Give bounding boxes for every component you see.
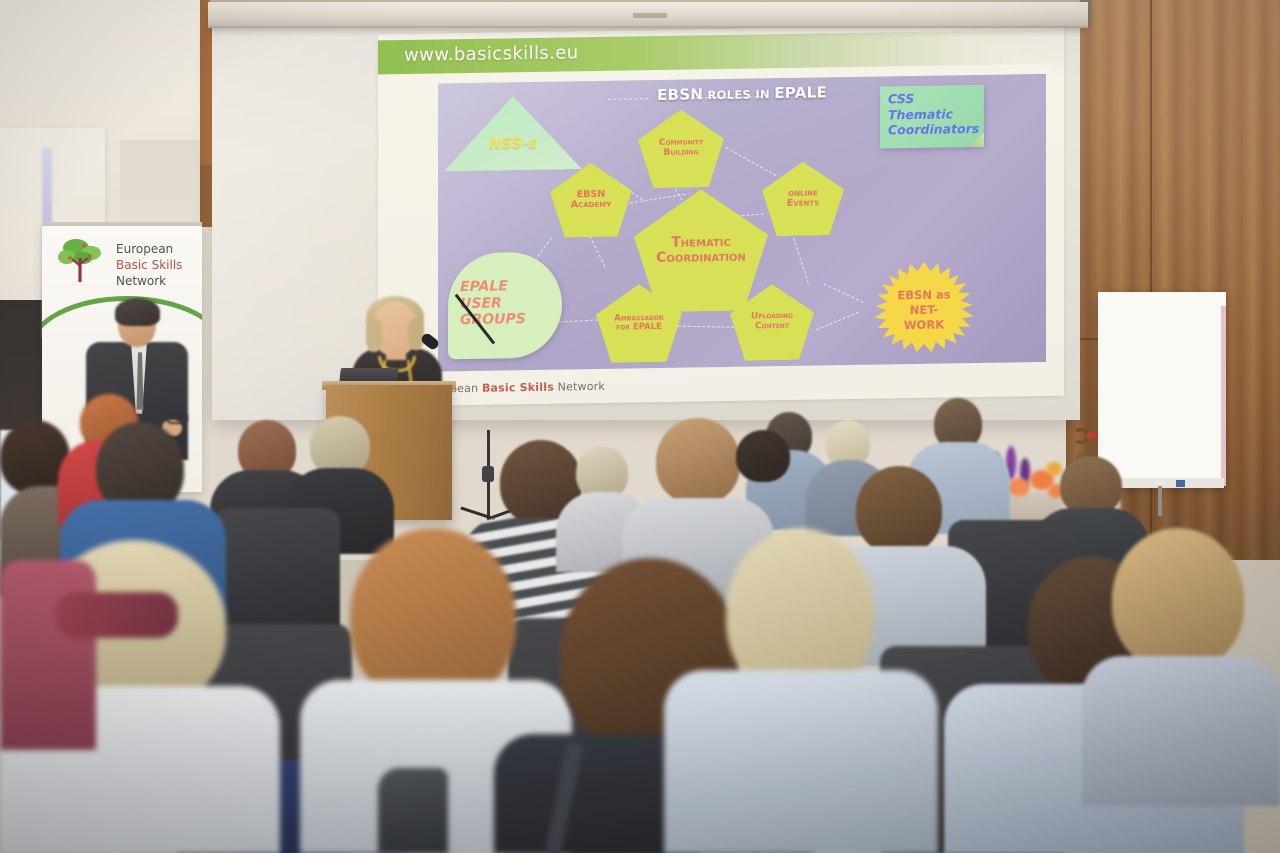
projection-screen: www.basicskills.eu EBSN ROLES IN EPALE	[212, 24, 1080, 420]
roller-brand-label	[633, 13, 667, 18]
shape-css-sticky-label: CSS Thematic Coordinators	[888, 90, 986, 138]
node-academy-line2: Academy	[571, 200, 612, 211]
shape-nss-label: NSS-s	[444, 133, 582, 153]
node-ambassador-line2: for EPALE	[616, 323, 662, 333]
speaker-hair-right	[408, 318, 424, 350]
node-community-line2: Building	[664, 148, 699, 158]
css-line2: Thematic	[888, 105, 986, 122]
chair	[214, 508, 340, 634]
tree-logo-icon	[56, 236, 110, 284]
network-line1: EBSN as	[878, 287, 970, 303]
css-line1: CSS	[888, 90, 986, 107]
shape-ebsn-network-label: EBSN as NET- WORK	[878, 287, 970, 333]
flipchart-marker	[1176, 480, 1185, 487]
flower-orange	[1008, 478, 1030, 496]
eyeglasses-icon	[166, 412, 188, 424]
projection-screen-roller	[208, 2, 1088, 28]
slide-title-main: EBSN	[657, 85, 703, 104]
slide-footer-post: Network	[554, 380, 605, 394]
projected-slide: www.basicskills.eu EBSN ROLES IN EPALE	[378, 24, 1064, 407]
speaker-hair-left	[366, 318, 382, 352]
banner-line-2: Basic Skills	[116, 258, 182, 274]
banner-line-1: European	[116, 242, 182, 258]
epale-line2: USER	[460, 294, 552, 312]
flipchart-leg	[1158, 486, 1162, 516]
microphone-adjuster[interactable]	[482, 466, 494, 482]
network-line2: NET-	[878, 302, 970, 318]
flipchart-edge	[1221, 306, 1226, 486]
flower-yellow	[1046, 462, 1062, 476]
node-uploading-line2: Content	[755, 322, 789, 332]
network-line3: WORK	[878, 317, 970, 333]
banner-line-3: Network	[116, 274, 182, 290]
flipchart-paper	[1098, 292, 1226, 486]
standing-man-hair	[115, 298, 160, 326]
slide-title-mid: ROLES IN	[708, 87, 770, 102]
slide-diagram-canvas: EBSN ROLES IN EPALE	[438, 74, 1046, 372]
wall-soffit	[0, 0, 215, 140]
banner-org-name: European Basic Skills Network	[116, 242, 182, 289]
css-line3: Coordinators	[888, 121, 986, 138]
node-thematic-line2: Coordination	[656, 250, 746, 267]
photo-scene: www.basicskills.eu EBSN ROLES IN EPALE	[0, 0, 1280, 853]
epale-line1: EPALE	[460, 278, 552, 296]
slide-title-end: EPALE	[774, 83, 827, 102]
node-online-line2: Events	[787, 198, 819, 209]
slide-footer-brand: Basic Skills	[482, 381, 554, 395]
slide-footer: pean Basic Skills Network	[378, 373, 1064, 397]
slide-url-text: www.basicskills.eu	[404, 42, 579, 66]
